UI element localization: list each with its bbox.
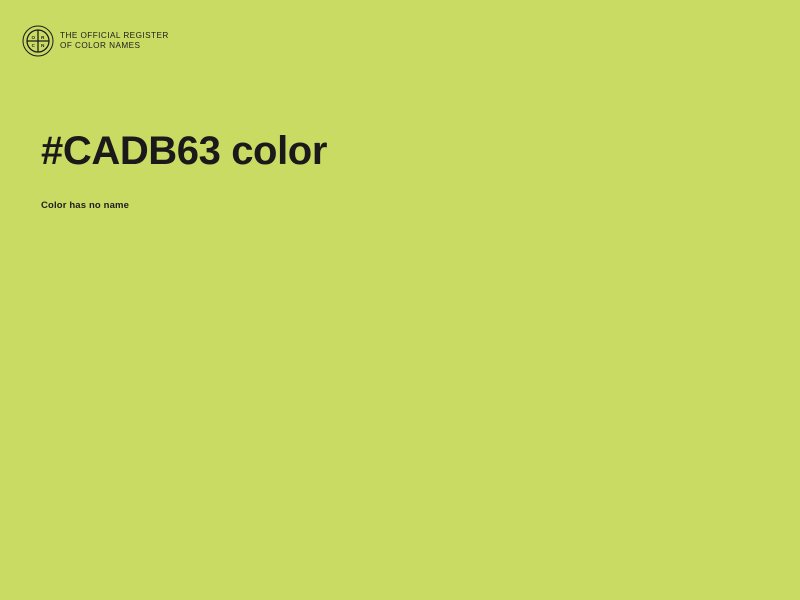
svg-text:N: N <box>41 43 44 48</box>
brand-title: THE OFFICIAL REGISTER OF COLOR NAMES <box>60 31 169 52</box>
svg-text:C: C <box>32 43 36 48</box>
brand-title-line-2: OF COLOR NAMES <box>60 41 169 52</box>
color-info-block: #CADB63 color Color has no name <box>41 128 741 212</box>
svg-text:R: R <box>41 35 45 40</box>
color-page: O R C N THE OFFICIAL REGISTER OF COLOR N… <box>0 0 800 600</box>
svg-text:O: O <box>31 35 35 40</box>
brand-header[interactable]: O R C N THE OFFICIAL REGISTER OF COLOR N… <box>22 25 169 57</box>
official-register-seal-icon: O R C N <box>22 25 54 57</box>
brand-title-line-1: THE OFFICIAL REGISTER <box>60 31 169 42</box>
color-name-status: Color has no name <box>41 174 741 212</box>
page-title: #CADB63 color <box>41 128 741 174</box>
